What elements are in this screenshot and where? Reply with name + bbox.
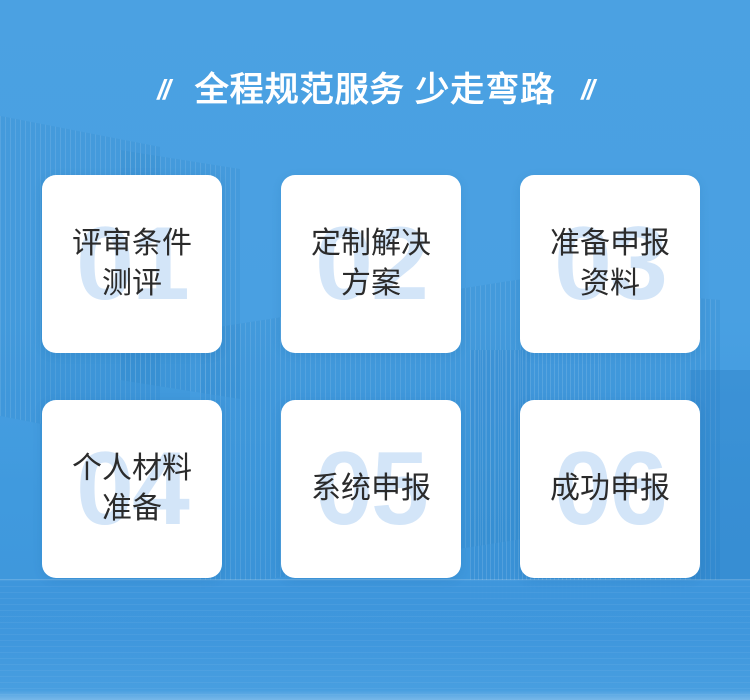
step-label: 定制解决 方案 — [303, 224, 439, 305]
step-card-03[interactable]: 03 准备申报 资料 — [520, 175, 700, 353]
water-sheen — [0, 580, 750, 700]
step-card-05[interactable]: 05 系统申报 — [281, 400, 461, 578]
step-card-04[interactable]: 04 个人材料 准备 — [42, 400, 222, 578]
step-label: 准备申报 资料 — [542, 224, 678, 305]
step-card-02[interactable]: 02 定制解决 方案 — [281, 175, 461, 353]
promo-poster: // 全程规范服务 少走弯路 // 01 评审条件 测评 02 定制解决 方案 … — [0, 0, 750, 700]
double-slash-right-icon: // — [581, 76, 593, 104]
double-slash-left-icon: // — [157, 76, 169, 104]
page-title: 全程规范服务 少走弯路 — [195, 73, 555, 107]
step-label: 评审条件 测评 — [64, 224, 200, 305]
step-label: 系统申报 — [303, 469, 439, 510]
step-label: 个人材料 准备 — [64, 449, 200, 530]
step-card-06[interactable]: 06 成功申报 — [520, 400, 700, 578]
headline-row: // 全程规范服务 少走弯路 // — [0, 66, 750, 114]
step-card-grid: 01 评审条件 测评 02 定制解决 方案 03 准备申报 资料 04 个人材料… — [42, 175, 700, 578]
step-label: 成功申报 — [542, 469, 678, 510]
step-card-01[interactable]: 01 评审条件 测评 — [42, 175, 222, 353]
bottom-fade — [0, 690, 750, 700]
